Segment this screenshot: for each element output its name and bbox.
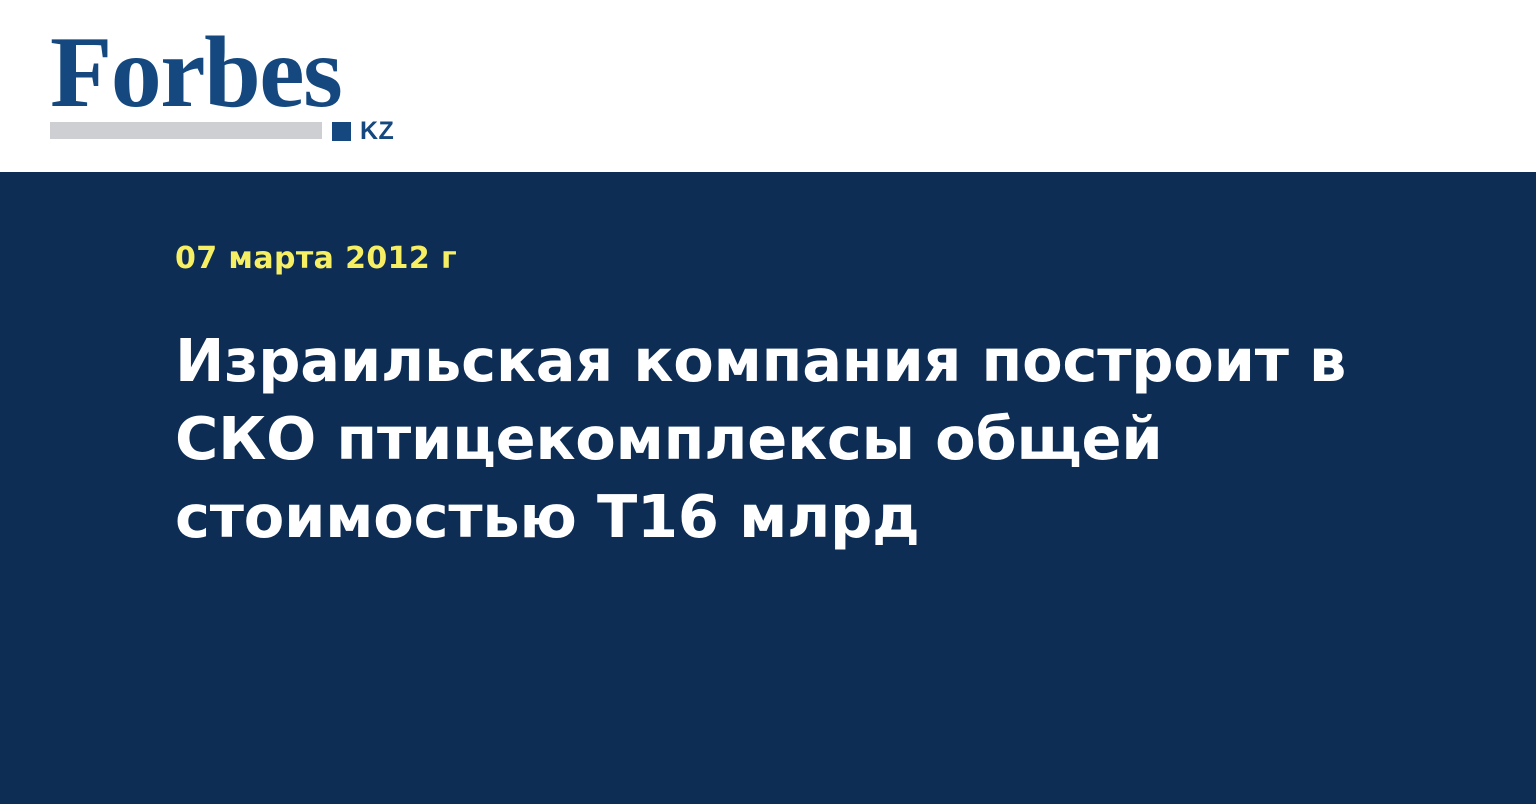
site-header: Forbes KZ: [0, 0, 1536, 172]
page-title: Израильская компания построит в СКО птиц…: [175, 276, 1380, 556]
logo-country-code: KZ: [360, 119, 394, 144]
logo-kz-mark: KZ: [332, 119, 394, 144]
article-hero: 07 марта 2012 г Израильская компания пос…: [0, 172, 1536, 804]
square-bullet-icon: [332, 122, 351, 141]
article-date: 07 марта 2012 г: [175, 172, 1395, 276]
logo-wordmark: Forbes: [50, 22, 341, 124]
article-hero-content: 07 марта 2012 г Израильская компания пос…: [175, 172, 1395, 556]
forbes-kz-logo[interactable]: Forbes KZ: [50, 22, 420, 147]
logo-underbar: [50, 122, 322, 139]
page-root: Forbes KZ 07 марта 2012 г Израильская ко…: [0, 0, 1536, 804]
